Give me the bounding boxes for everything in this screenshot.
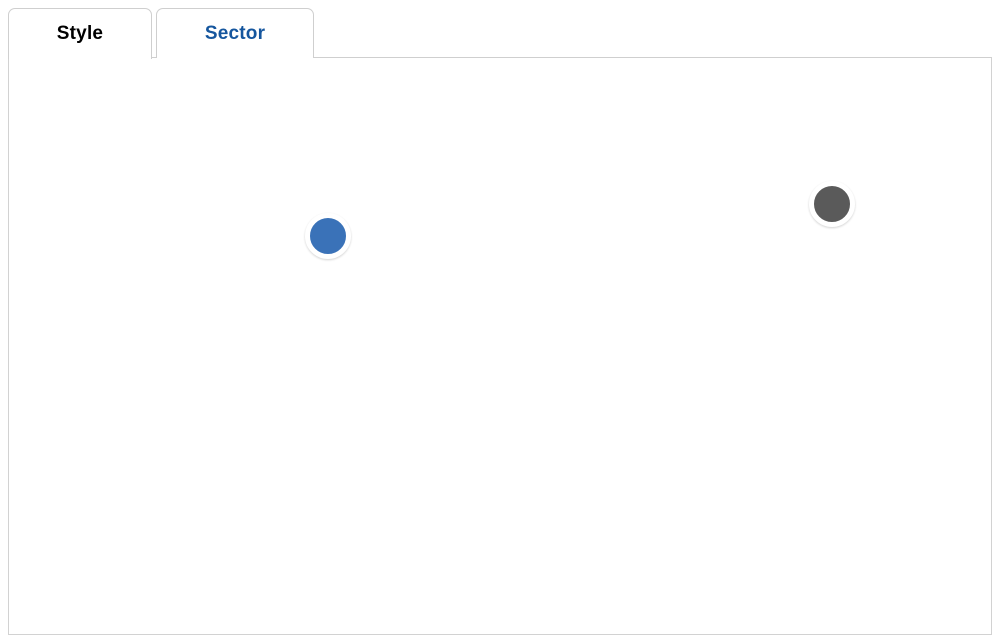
style-allocation-panel: Style Sector Your selected accounts COMP…: [0, 0, 1000, 642]
tab-sector[interactable]: Sector: [156, 8, 314, 58]
panel-body: [8, 57, 992, 635]
position-marker: [809, 181, 855, 227]
tab-sector-label: Sector: [205, 23, 265, 45]
tab-style[interactable]: Style: [8, 8, 152, 59]
position-marker: [305, 213, 351, 259]
tab-style-label: Style: [57, 23, 103, 45]
tabstrip: Style Sector: [0, 0, 1000, 58]
